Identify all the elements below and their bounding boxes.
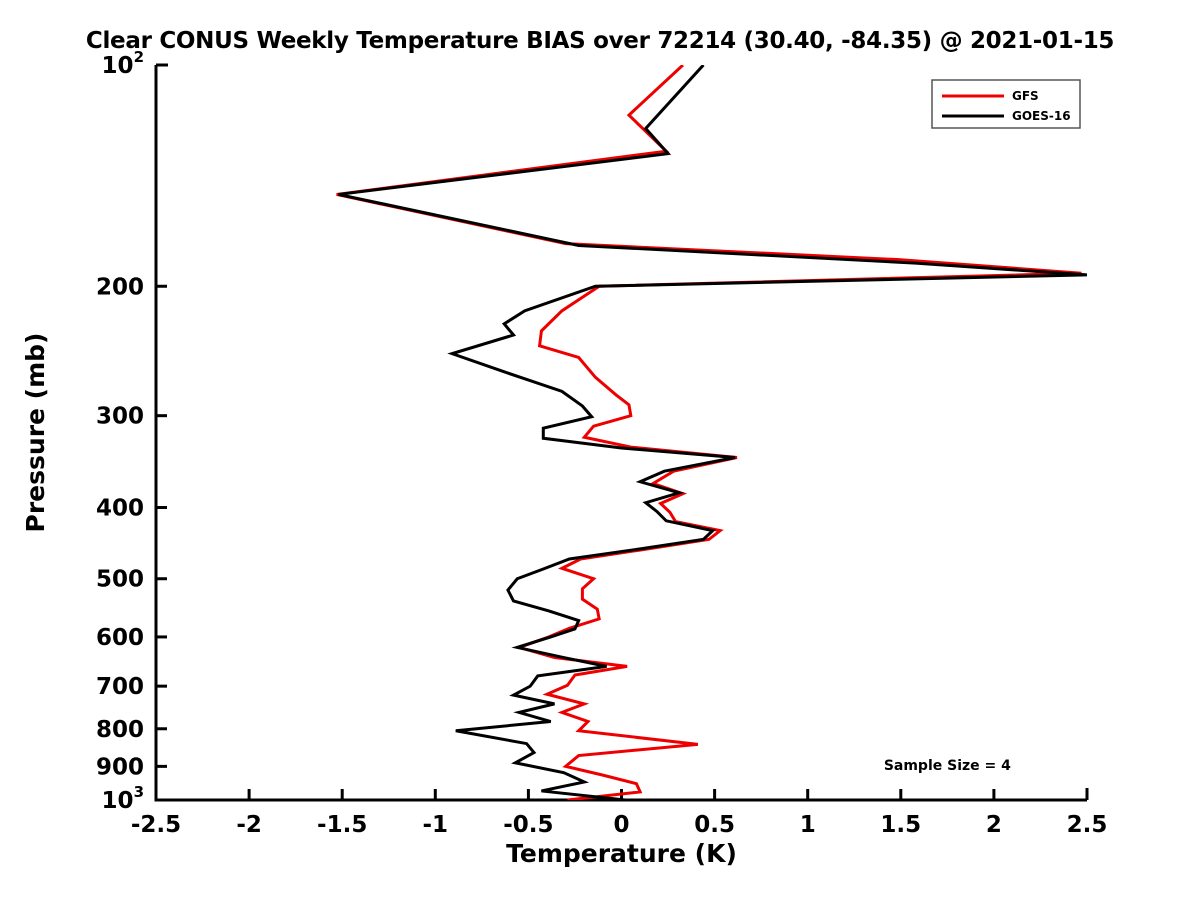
- legend-label-goes-16: GOES-16: [1012, 109, 1071, 123]
- annotation-sample-size: Sample Size = 4: [884, 758, 1011, 774]
- y-tick-label: 103: [102, 783, 144, 814]
- x-tick-label: 1.5: [880, 812, 921, 838]
- y-tick-label: 300: [96, 404, 144, 430]
- x-tick-label: -1.5: [317, 812, 367, 838]
- y-tick-label: 600: [96, 625, 144, 651]
- y-tick-label: 500: [96, 567, 144, 593]
- axis-spines: [156, 65, 1087, 800]
- x-tick-label: -2.5: [131, 812, 181, 838]
- chart-figure: Clear CONUS Weekly Temperature BIAS over…: [0, 0, 1200, 900]
- plot-area: -2.5-2-1.5-1-0.500.511.522.5102200300400…: [0, 0, 1200, 900]
- x-tick-label: 1: [800, 812, 816, 838]
- x-tick-label: 2: [986, 812, 1002, 838]
- x-tick-label: 2.5: [1067, 812, 1108, 838]
- x-tick-label: 0: [613, 812, 629, 838]
- y-axis-title: Pressure (mb): [21, 333, 50, 533]
- series-line-gfs: [337, 65, 1082, 800]
- y-tick-label: 800: [96, 717, 144, 743]
- x-tick-label: 0.5: [694, 812, 735, 838]
- x-tick-label: -2: [236, 812, 262, 838]
- y-tick-label: 900: [96, 754, 144, 780]
- series-line-goes-16: [338, 65, 1087, 800]
- y-tick-label: 102: [102, 48, 144, 79]
- y-tick-label: 200: [96, 274, 144, 300]
- y-tick-label: 400: [96, 496, 144, 522]
- x-tick-label: -0.5: [503, 812, 553, 838]
- x-axis-title: Temperature (K): [506, 839, 737, 868]
- x-tick-label: -1: [423, 812, 449, 838]
- legend-label-gfs: GFS: [1012, 89, 1039, 103]
- y-tick-label: 700: [96, 674, 144, 700]
